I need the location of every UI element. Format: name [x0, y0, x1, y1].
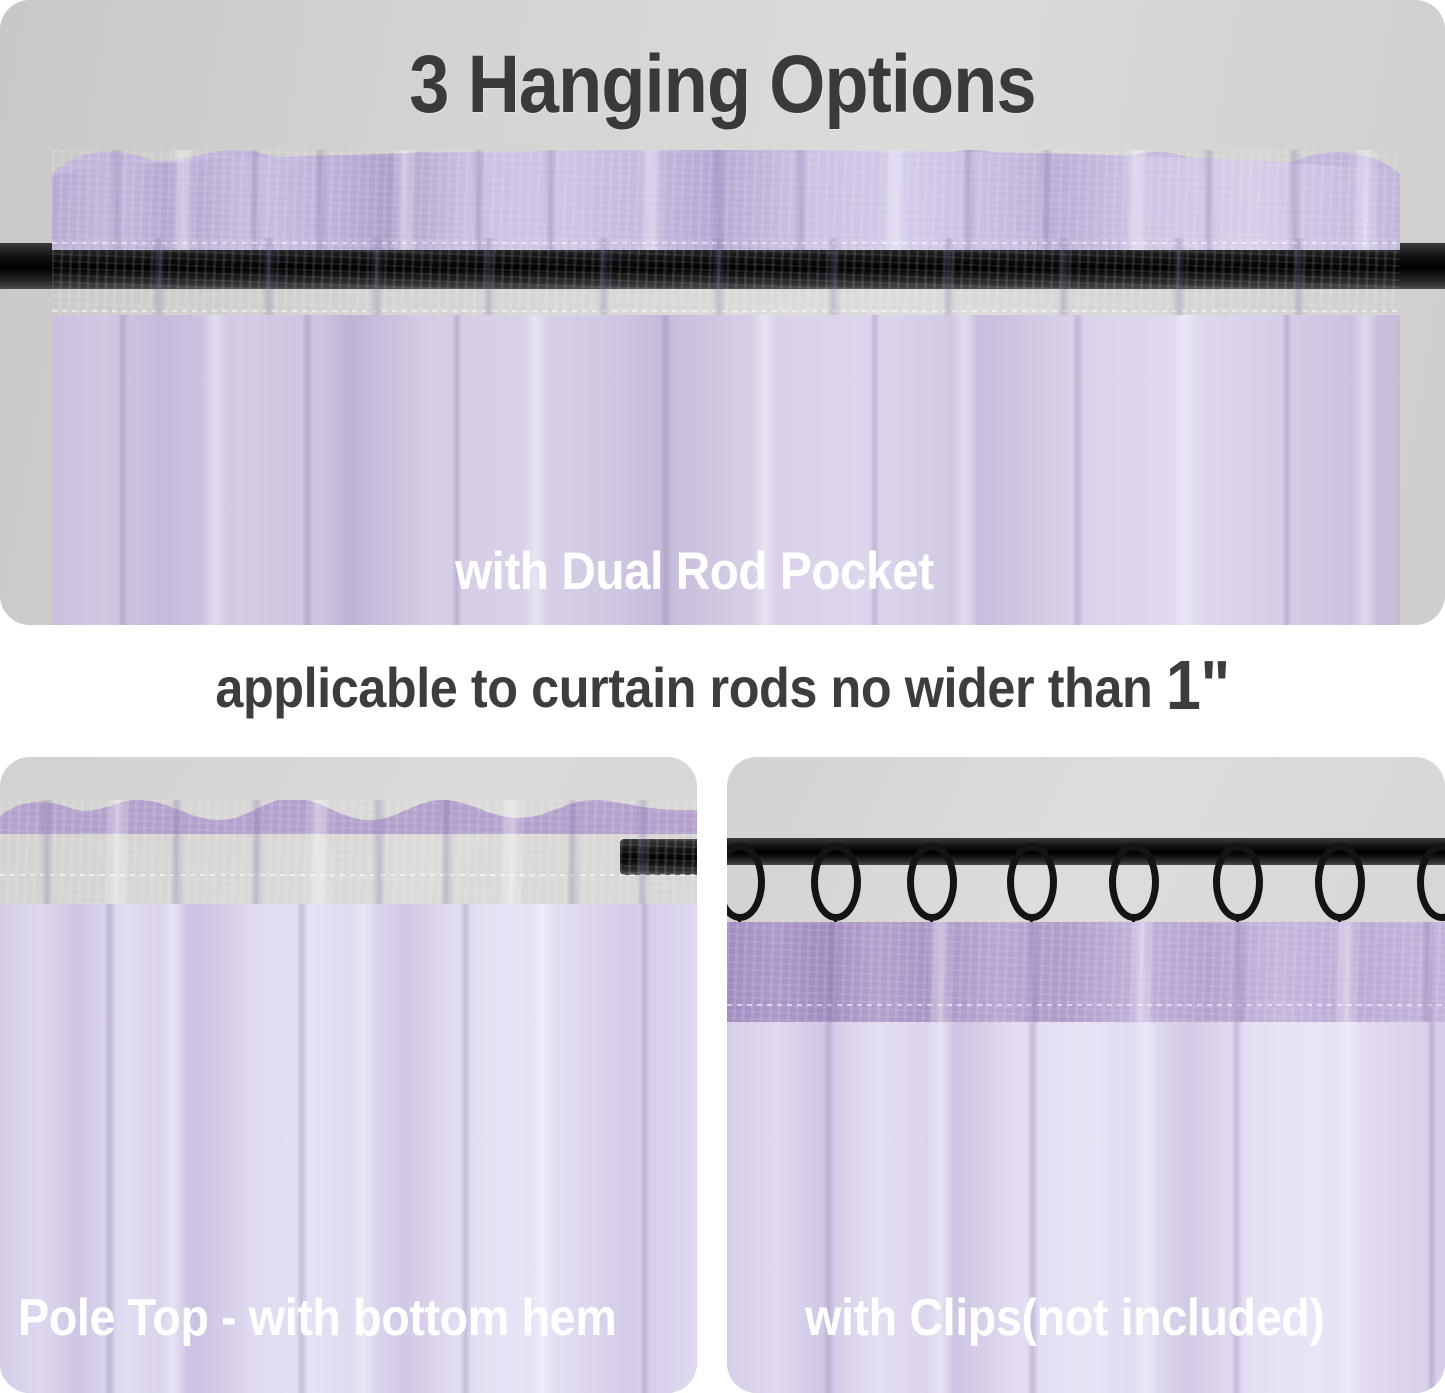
rod-pocket-band — [52, 238, 1400, 318]
stitch-line — [0, 874, 697, 876]
rod-width-note-text: applicable to curtain rods no wider than — [215, 656, 1165, 719]
band-sheen — [727, 922, 1445, 1026]
curtain-ruffle-header — [52, 150, 1400, 250]
curtain-ring[interactable] — [1109, 843, 1159, 921]
curtain-ring[interactable] — [1315, 843, 1365, 921]
rod-width-value: 1" — [1166, 646, 1230, 724]
caption-with-clips: with Clips(not included) — [805, 1288, 1325, 1348]
fabric-sheen — [52, 150, 1400, 250]
band-sheen — [52, 238, 1400, 318]
curtain-ring[interactable] — [811, 843, 861, 921]
rod-width-note: applicable to curtain rods no wider than… — [0, 645, 1445, 725]
caption-pole-top: Pole Top - with bottom hem — [18, 1288, 616, 1348]
curtain-with-clips: with Clips(not included) — [727, 922, 1445, 1393]
stitch-line — [727, 1004, 1445, 1006]
hanging-options-infographic: with Dual Rod Pocket 3 Hanging Options a… — [0, 0, 1445, 1393]
curtain-ring[interactable] — [907, 843, 957, 921]
sheer-header-band — [727, 922, 1445, 1026]
stitch-line-top — [52, 242, 1400, 244]
caption-dual-rod-pocket: with Dual Rod Pocket — [455, 541, 934, 602]
pole-top-header — [0, 800, 697, 908]
curtain-ring[interactable] — [1213, 843, 1263, 921]
curtain-pole-top: Pole Top - with bottom hem — [0, 800, 697, 1393]
fabric-sheen — [0, 800, 697, 908]
stitch-line-bottom — [52, 310, 1400, 312]
curtain-ring[interactable] — [1007, 843, 1057, 921]
page-title: 3 Hanging Options — [87, 38, 1359, 132]
